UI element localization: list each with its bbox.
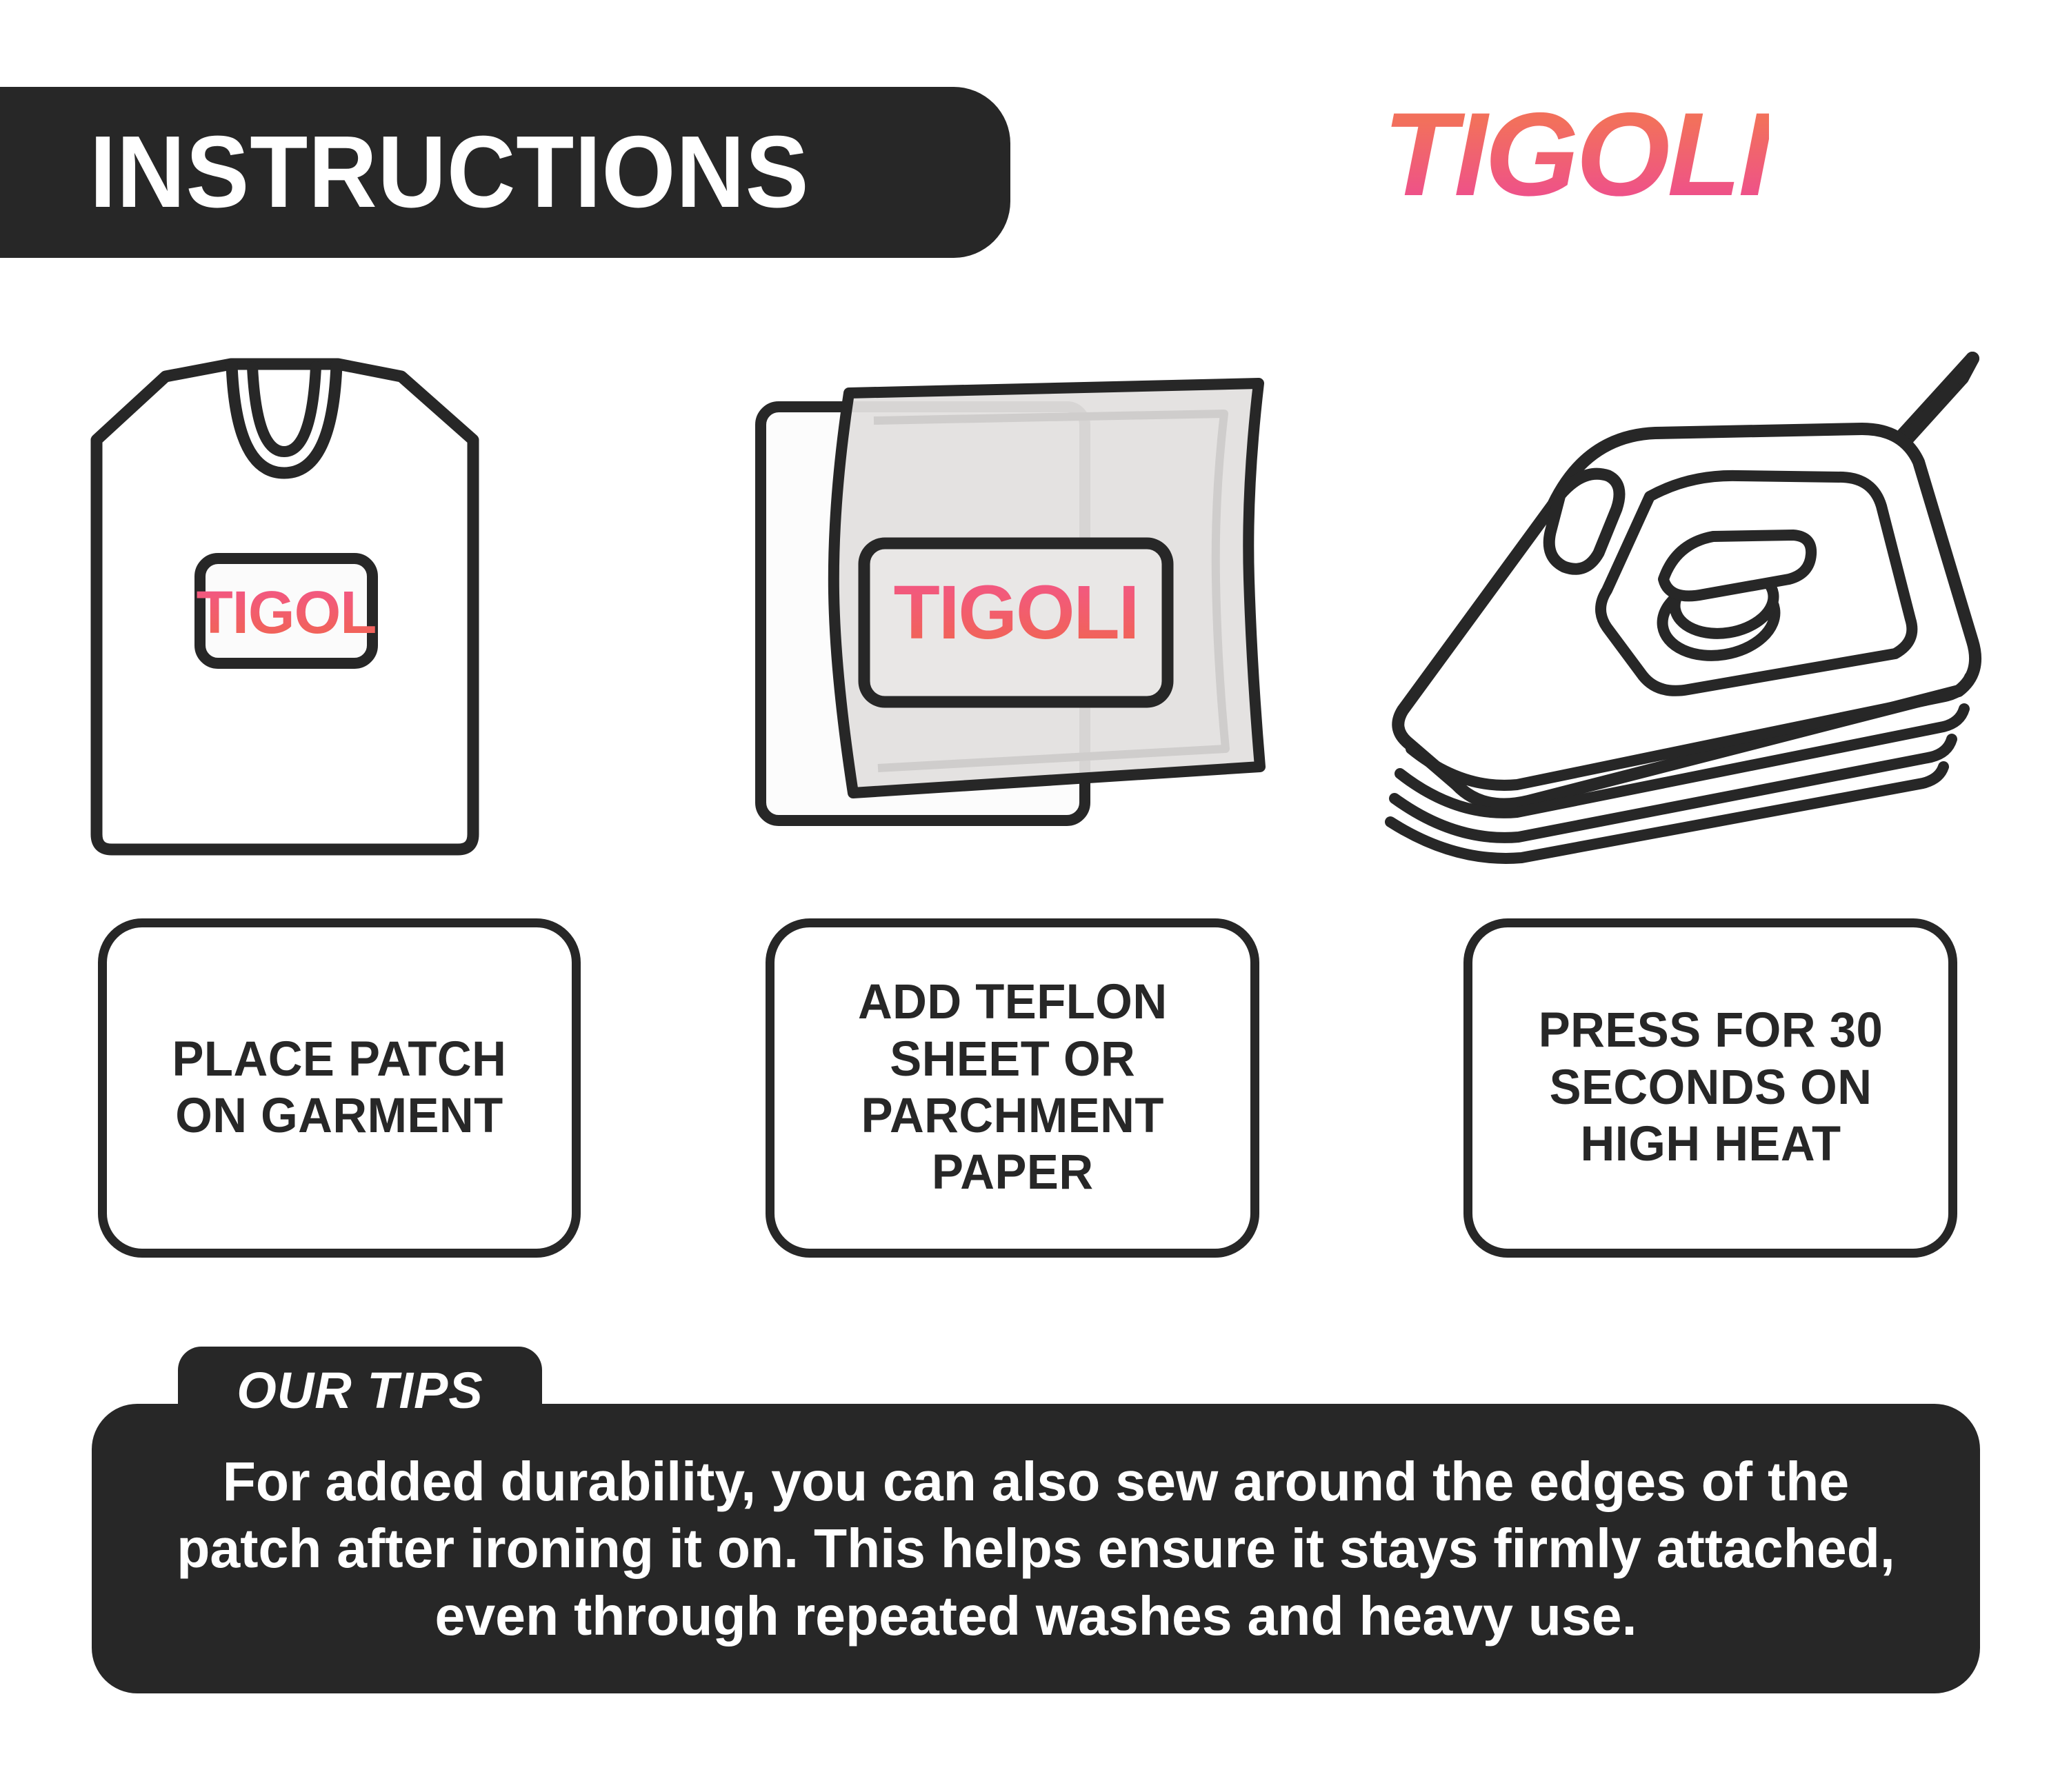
illustration-row: TIGOL TIGOLI bbox=[0, 352, 2069, 896]
teflon-sheet-illustration: TIGOLI bbox=[748, 352, 1293, 896]
patch-label-sheet: TIGOLI bbox=[894, 570, 1139, 655]
page-title: INSTRUCTIONS bbox=[90, 121, 809, 223]
brand-logo: TIGOLI bbox=[1383, 95, 1769, 214]
patch-label-shirt: TIGOL bbox=[197, 579, 377, 646]
caption-row: PLACE PATCH ON GARMENT ADD TEFLON SHEET … bbox=[0, 918, 2069, 1263]
caption-text: PLACE PATCH ON GARMENT bbox=[172, 1031, 507, 1145]
caption-box-place-patch: PLACE PATCH ON GARMENT bbox=[98, 918, 581, 1258]
our-tips-label: OUR TIPS bbox=[237, 1365, 483, 1416]
tips-panel: For added durability, you can also sew a… bbox=[92, 1404, 1980, 1693]
iron-illustration bbox=[1379, 352, 2055, 896]
tshirt-illustration: TIGOL bbox=[83, 352, 586, 896]
caption-text: ADD TEFLON SHEET OR PARCHMENT PAPER bbox=[858, 974, 1168, 1201]
caption-text: PRESS FOR 30 SECONDS ON HIGH HEAT bbox=[1538, 1003, 1883, 1173]
caption-box-add-teflon: ADD TEFLON SHEET OR PARCHMENT PAPER bbox=[766, 918, 1259, 1258]
instructions-header-bar: INSTRUCTIONS bbox=[0, 87, 1010, 258]
tips-body-text: For added durability, you can also sew a… bbox=[106, 1448, 1966, 1650]
caption-box-press-heat: PRESS FOR 30 SECONDS ON HIGH HEAT bbox=[1463, 918, 1957, 1258]
our-tips-tab: OUR TIPS bbox=[178, 1347, 542, 1435]
